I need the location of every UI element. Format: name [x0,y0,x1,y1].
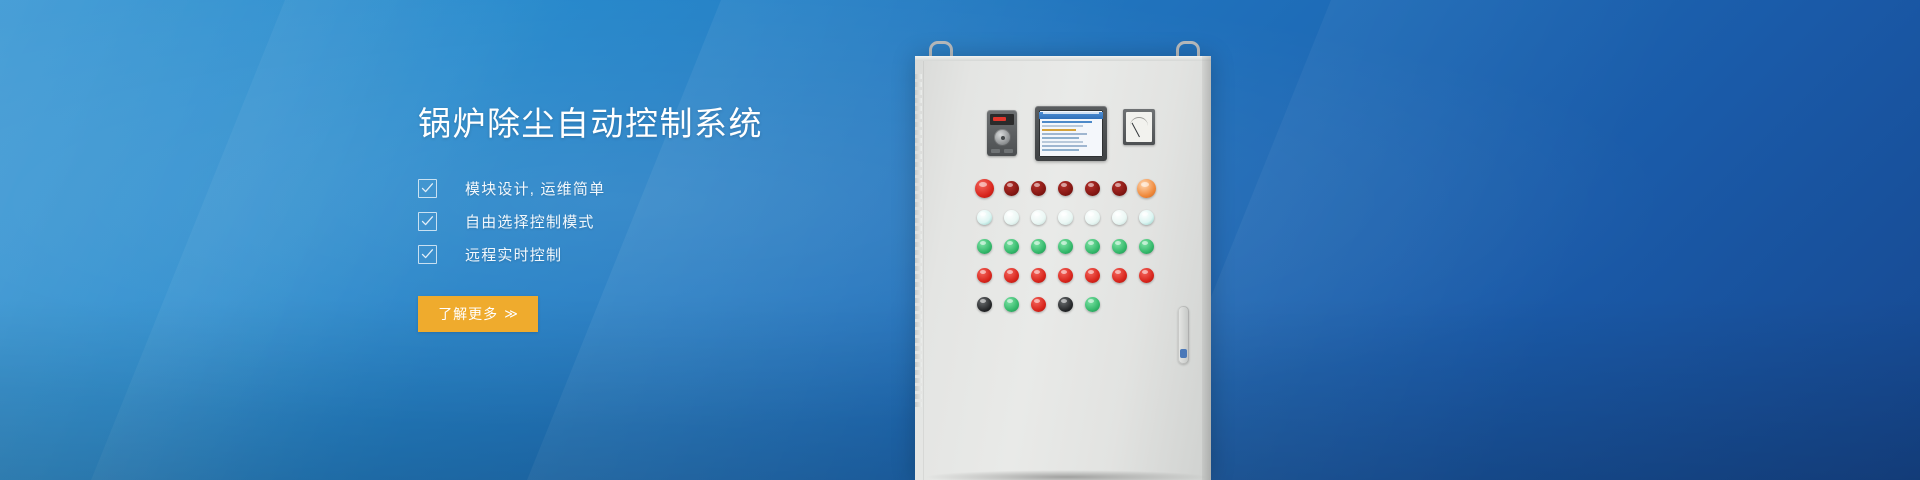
indicator-lamp[interactable] [977,210,992,225]
meter-needle-icon [1132,123,1140,138]
vfd-dial-icon[interactable] [994,129,1011,146]
indicator-lamp[interactable] [977,239,992,254]
indicator-lamp[interactable] [1112,268,1127,283]
emergency-stop-button[interactable] [975,179,994,198]
indicator-lamp[interactable] [1112,181,1127,196]
indicator-lamp[interactable] [1031,239,1046,254]
indicator-lamp[interactable] [1058,181,1073,196]
indicator-lamp[interactable] [1004,268,1019,283]
start-button[interactable] [1004,297,1019,312]
indicator-lamp[interactable] [1139,268,1154,283]
hmi-touchscreen[interactable] [1035,106,1107,161]
feature-label: 模块设计, 运维简单 [465,178,605,199]
vfd-button[interactable] [1004,149,1013,153]
list-item: 远程实时控制 [418,238,888,271]
page-title: 锅炉除尘自动控制系统 [418,104,888,144]
learn-more-button[interactable]: 了解更多 ≫ [418,296,538,332]
feature-list: 模块设计, 运维简单 自由选择控制模式 远程实时控制 [418,172,888,271]
hmi-screen-rows [1039,119,1103,155]
vfd-display [990,114,1014,125]
feature-label: 自由选择控制模式 [465,211,595,232]
lamp-row [971,290,1161,319]
vfd-button[interactable] [991,149,1000,153]
indicator-lamp[interactable] [1139,239,1154,254]
cabinet-door-seam [923,61,924,480]
cabinet-body [915,56,1211,480]
meter-face [1126,112,1152,142]
lamp-row [971,203,1161,232]
selector-switch[interactable] [1058,297,1073,312]
hero-banner: 锅炉除尘自动控制系统 模块设计, 运维简单 自由选择控制模式 远程实时控制 [0,0,1920,480]
indicator-lamp[interactable] [1031,268,1046,283]
indicator-lamp[interactable] [1137,179,1156,198]
chevron-right-icon: ≫ [504,306,518,322]
indicator-lamp[interactable] [1058,239,1073,254]
list-item: 模块设计, 运维简单 [418,172,888,205]
lamp-row [971,232,1161,261]
indicator-lamp[interactable] [1058,268,1073,283]
vfd-keypad[interactable] [987,110,1017,156]
control-cabinet-image [905,0,1235,480]
list-item: 自由选择控制模式 [418,205,888,238]
indicator-lamp[interactable] [1004,239,1019,254]
indicator-lamp[interactable] [1112,210,1127,225]
cabinet-top-edge [915,56,1211,61]
indicator-lamp[interactable] [1004,181,1019,196]
selector-switch[interactable] [977,297,992,312]
lamp-row [971,174,1161,203]
hero-content: 锅炉除尘自动控制系统 模块设计, 运维简单 自由选择控制模式 远程实时控制 [418,104,888,332]
learn-more-label: 了解更多 [438,304,498,324]
indicator-lamp[interactable] [1112,239,1127,254]
hmi-screen-content [1039,110,1103,157]
stop-button[interactable] [1031,297,1046,312]
indicator-lamp[interactable] [1085,239,1100,254]
indicator-lamp[interactable] [1085,181,1100,196]
indicator-lamp[interactable] [1004,210,1019,225]
checkbox-icon [418,245,437,264]
feature-label: 远程实时控制 [465,244,562,265]
indicator-lamp[interactable] [1085,268,1100,283]
indicator-lamp[interactable] [977,268,992,283]
cabinet-right-edge [1202,56,1211,480]
lamp-row [971,261,1161,290]
cabinet-hinge [915,74,922,414]
checkbox-icon [418,179,437,198]
indicator-lamp[interactable] [1031,210,1046,225]
indicator-lamp[interactable] [1058,210,1073,225]
cabinet-door-handle[interactable] [1178,306,1189,364]
checkbox-icon [418,212,437,231]
hmi-screen-header [1039,112,1103,119]
start-button[interactable] [1085,297,1100,312]
indicator-lamp-grid [971,174,1161,319]
indicator-lamp[interactable] [1085,210,1100,225]
cabinet-shadow [923,470,1209,480]
indicator-lamp[interactable] [1031,181,1046,196]
analog-meter [1123,109,1155,145]
indicator-lamp[interactable] [1139,210,1154,225]
